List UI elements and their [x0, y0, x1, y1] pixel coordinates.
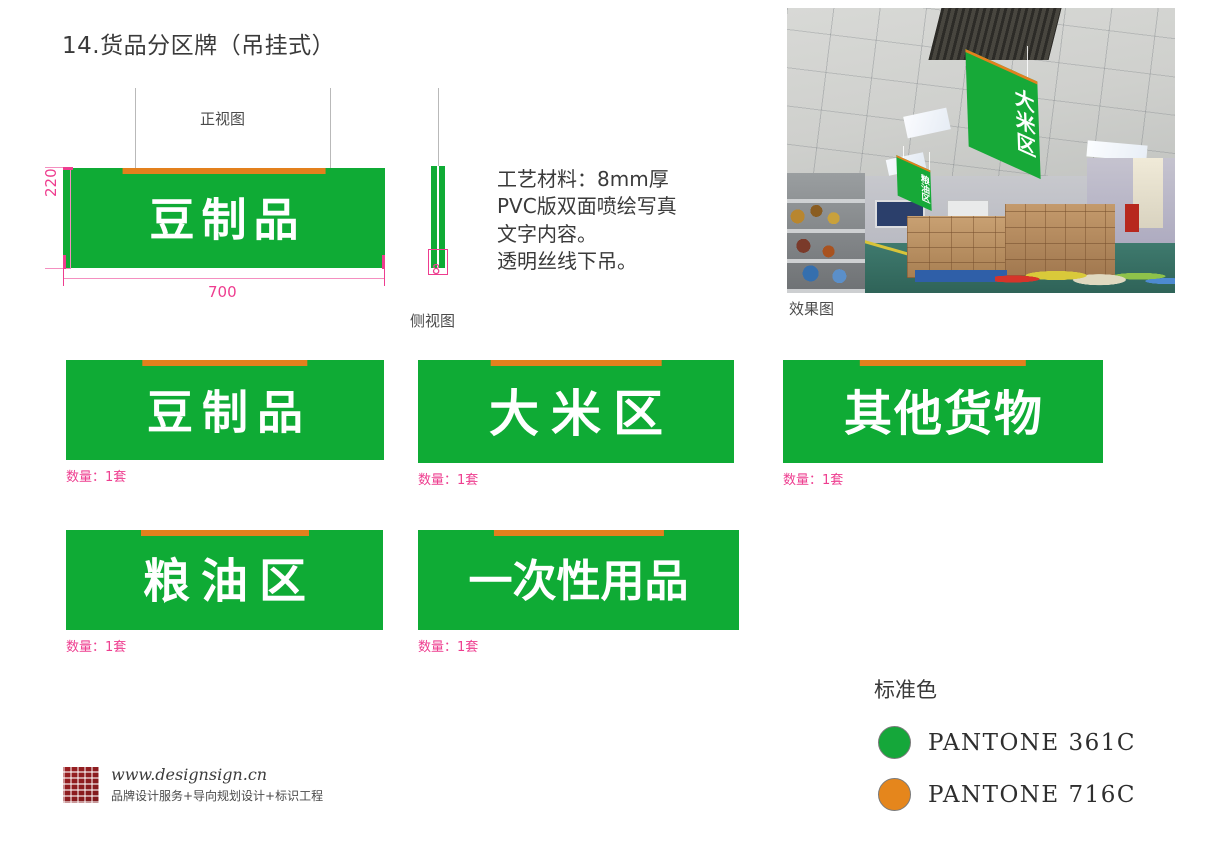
sign-board: 大米区 数量：1套 — [418, 360, 734, 463]
photo-shelf-goods — [789, 198, 861, 290]
sign-board-text: 一次性用品 — [418, 556, 739, 604]
sign-orange-accent-bar — [493, 530, 663, 536]
material-spec-line-3: 文字内容。 — [497, 221, 747, 248]
thickness-dimension-value: 8 — [432, 263, 440, 278]
sign-board-text: 大米区 — [418, 385, 734, 439]
color-swatch-orange-label: PANTONE 716C — [928, 782, 1136, 808]
sign-orange-accent-bar — [123, 168, 326, 174]
color-swatch-green — [878, 726, 911, 759]
sign-variant: 粮油区 数量：1套 — [66, 530, 383, 630]
dimension-corner-tick-bottom-right — [382, 255, 385, 269]
hanging-wire-right — [330, 88, 331, 170]
width-dimension-line — [63, 278, 385, 279]
sign-board: 一次性用品 数量：1套 — [418, 530, 739, 630]
sign-variant: 大米区 数量：1套 — [418, 360, 734, 463]
effect-photo-caption: 效果图 — [789, 298, 834, 319]
width-dimension-value: 700 — [208, 283, 237, 301]
sign-quantity-label: 数量：1套 — [66, 636, 126, 655]
side-view-label: 侧视图 — [410, 310, 455, 331]
company-seal-logo — [63, 767, 99, 803]
footer-tagline: 品牌设计服务+导向规划设计+标识工程 — [111, 787, 323, 804]
sign-variant: 一次性用品 数量：1套 — [418, 530, 739, 630]
width-dimension-tick-left — [63, 266, 64, 286]
sign-orange-accent-bar — [142, 360, 307, 366]
sign-orange-accent-bar — [141, 530, 309, 536]
hanging-wire-side — [438, 88, 439, 166]
sign-board: 粮油区 数量：1套 — [66, 530, 383, 630]
material-spec: 工艺材料：8mm厚 PVC版双面喷绘写真 文字内容。 透明丝线下吊。 — [497, 166, 747, 276]
color-swatch-orange — [878, 778, 911, 811]
standard-color-row: PANTONE 716C — [878, 778, 1136, 811]
color-swatch-green-label: PANTONE 361C — [928, 730, 1136, 756]
material-spec-line-1: 工艺材料：8mm厚 — [497, 166, 747, 193]
footer-website-url[interactable]: www.designsign.cn — [111, 766, 323, 784]
sign-variant: 其他货物 数量：1套 — [783, 360, 1103, 463]
page-title: 14.货品分区牌（吊挂式） — [62, 26, 335, 60]
photo-ceiling-vent — [929, 8, 1062, 60]
dimension-corner-tick-top-left — [63, 167, 73, 170]
footer-text-block: www.designsign.cn 品牌设计服务+导向规划设计+标识工程 — [111, 766, 323, 804]
sign-quantity-label: 数量：1套 — [66, 466, 126, 485]
sign-quantity-label: 数量：1套 — [783, 469, 843, 488]
dimension-corner-tick-bottom-left — [63, 255, 66, 269]
photo-rice-sacks — [995, 258, 1175, 293]
sign-quantity-label: 数量：1套 — [418, 636, 478, 655]
front-view-sign: 豆制品 — [63, 168, 385, 268]
sign-variant: 豆制品 数量：1套 — [66, 360, 384, 460]
sign-board: 豆制品 数量：1套 — [66, 360, 384, 460]
height-dimension-value: 220 — [42, 168, 60, 197]
effect-photo: 大米区 粮油区 — [787, 8, 1175, 293]
front-view-sign-text: 豆制品 — [63, 194, 385, 243]
footer: www.designsign.cn 品牌设计服务+导向规划设计+标识工程 — [63, 766, 323, 804]
standard-color-row: PANTONE 361C — [878, 726, 1136, 759]
front-view-label: 正视图 — [200, 108, 245, 129]
sign-board-text: 豆制品 — [66, 385, 384, 436]
hanging-wire-left — [135, 88, 136, 170]
standard-color-title: 标准色 — [874, 674, 937, 704]
photo-fire-extinguisher-box — [1125, 204, 1139, 232]
material-spec-line-2: PVC版双面喷绘写真 — [497, 193, 747, 220]
sign-board-text: 其他货物 — [783, 386, 1103, 438]
height-dimension-tick-bottom — [45, 268, 71, 269]
sign-quantity-label: 数量：1套 — [418, 469, 478, 488]
sign-board: 其他货物 数量：1套 — [783, 360, 1103, 463]
photo-pallet — [915, 270, 1007, 282]
height-dimension-line — [70, 168, 71, 268]
sign-orange-accent-bar — [491, 360, 662, 366]
sign-board-text: 粮油区 — [66, 555, 383, 606]
width-dimension-tick-right — [384, 266, 385, 286]
material-spec-line-4: 透明丝线下吊。 — [497, 248, 747, 275]
sign-orange-accent-bar — [860, 360, 1026, 366]
